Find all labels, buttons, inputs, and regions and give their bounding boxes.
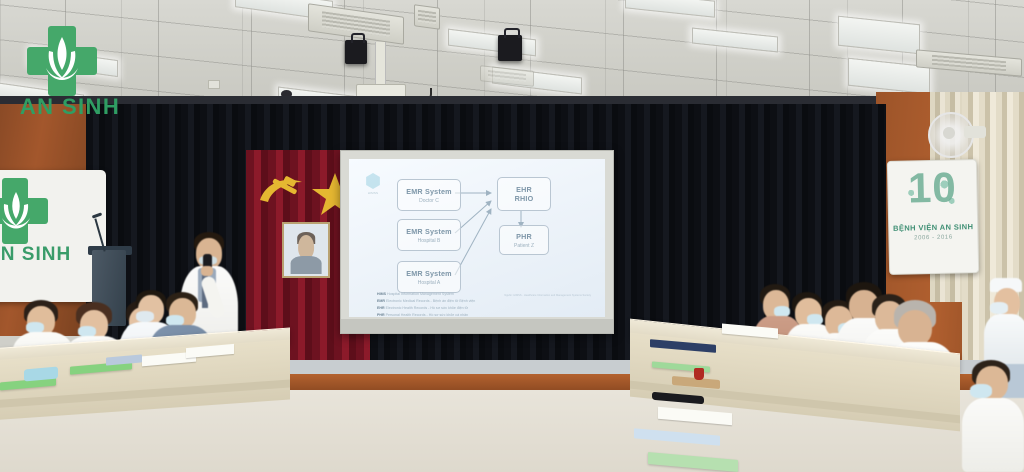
ceiling-speaker	[498, 35, 522, 61]
anniversary-number: 10	[888, 166, 977, 210]
red-cup	[694, 368, 704, 380]
hammer-and-sickle-icon	[256, 174, 310, 210]
audience-person-right-foreground	[962, 360, 1024, 472]
diagram-node-emr-hospital-b: EMR System Hospital B	[397, 219, 461, 251]
slide-legend-hims: HIMS Hospital Information Management Sys…	[377, 291, 454, 297]
screen-bottom-rail	[341, 319, 613, 333]
diagram-node-emr-doctor-c: EMR System Doctor C	[397, 179, 461, 211]
ceiling-speaker	[345, 40, 367, 64]
wall-fan-icon	[928, 112, 992, 158]
diagram-node-phr-patient-z: PHR Patient Z	[499, 225, 549, 255]
projector-mount	[375, 42, 386, 86]
slide-logo: HIMSS	[363, 173, 383, 199]
slide-legend-phr: PHR Personal Health Records - Hồ sơ sức …	[377, 312, 468, 318]
slide-legend-emr: EMR Electronic Medical Records - Bệnh án…	[377, 298, 475, 304]
portrait-frame	[282, 222, 330, 278]
anniversary-hospital-name: BỆNH VIỆN AN SINH	[889, 222, 977, 233]
projection-screen: HIMSS EMR System Doctor C EMR System Hos…	[340, 150, 614, 334]
watermark-logo: AN SINH	[10, 8, 130, 116]
slide-surface: HIMSS EMR System Doctor C EMR System Hos…	[349, 159, 605, 317]
diagram-node-emr-hospital-a: EMR System Hospital A	[397, 261, 461, 293]
diagram-node-ehr-rhio: EHR RHIO	[497, 177, 551, 211]
watermark-label: AN SINH	[10, 94, 130, 120]
air-conditioner-vent	[414, 4, 440, 30]
slide-footnote: Nguồn: HIMSS - Healthcare Information an…	[504, 294, 591, 297]
lotus-flame-icon	[0, 188, 36, 234]
anniversary-poster: 10 BỆNH VIỆN AN SINH 2006 - 2016	[887, 159, 979, 275]
ceiling-sensor	[208, 80, 220, 89]
wall-sign-an-sinh-left: N SINH	[0, 170, 106, 302]
anniversary-years: 2006 - 2016	[889, 234, 977, 242]
slide-legend-ehr: EHR Electronic Health Records - Hồ sơ sứ…	[377, 305, 468, 311]
slide-logo-label: HIMSS	[363, 191, 383, 195]
conference-room-photo: N SINH 10 BỆNH VIỆN AN SINH 2006 - 2016 …	[0, 0, 1024, 472]
lotus-flame-icon	[40, 34, 84, 88]
